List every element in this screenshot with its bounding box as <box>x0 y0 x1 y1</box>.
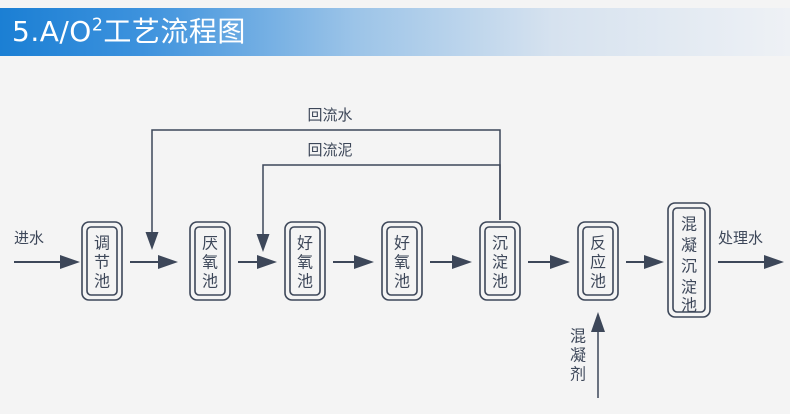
edge-chendian-to-fanying <box>528 255 570 269</box>
node-tiaojie-char-0: 调 <box>94 234 110 253</box>
node-chendian-char-2: 池 <box>492 272 508 291</box>
node-haoyang-1[interactable]: 好 氧 池 <box>285 222 325 300</box>
node-haoyang-2-char-1: 氧 <box>394 253 410 272</box>
node-yanyang-char-2: 池 <box>202 272 218 291</box>
node-fanying-char-2: 池 <box>590 272 606 291</box>
return-water-arrowhead <box>146 232 159 250</box>
node-tiaojie-char-1: 节 <box>94 253 110 272</box>
return-sludge-path <box>257 165 501 252</box>
node-yanyang-char-0: 厌 <box>202 234 218 253</box>
node-yanyang[interactable]: 厌 氧 池 <box>190 222 230 300</box>
node-haoyang-1-char-2: 池 <box>297 272 313 291</box>
edge-haoyang2-to-chendian <box>430 255 472 269</box>
outlet-arrow <box>718 255 784 269</box>
node-hunning-char-4: 池 <box>681 296 697 315</box>
node-haoyang-2-char-0: 好 <box>394 234 410 253</box>
node-chendian-char-1: 淀 <box>492 253 508 272</box>
node-fanying[interactable]: 反 应 池 <box>578 222 618 300</box>
edge-tiaojie-to-yanyang <box>130 255 178 269</box>
node-hunning-chendian[interactable]: 混 凝 沉 淀 池 <box>668 203 710 317</box>
node-chendian-char-0: 沉 <box>492 234 508 253</box>
edge-yanyang-to-haoyang1 <box>238 255 277 269</box>
return-sludge-label: 回流泥 <box>307 141 352 159</box>
edge-fanying-to-hunning <box>626 255 664 269</box>
outlet-label: 处理水 <box>718 229 763 247</box>
coagulant-dosing-arrow <box>591 312 605 398</box>
inlet-arrow <box>14 255 80 269</box>
node-haoyang-1-char-1: 氧 <box>297 253 313 272</box>
edge-haoyang1-to-haoyang2 <box>333 255 374 269</box>
node-hunning-char-0: 混 <box>681 215 697 234</box>
coagulant-label-char-2: 剂 <box>570 365 586 384</box>
node-hunning-char-1: 凝 <box>681 236 697 255</box>
node-hunning-char-2: 沉 <box>681 257 697 276</box>
inlet-label: 进水 <box>14 229 44 247</box>
return-sludge-arrowhead <box>257 234 270 252</box>
node-haoyang-1-char-0: 好 <box>297 234 313 253</box>
process-flow-diagram: 回流水 回流泥 进水 调 节 池 厌 氧 池 好 氧 <box>0 0 790 414</box>
return-water-label: 回流水 <box>307 106 352 124</box>
node-chendian[interactable]: 沉 淀 池 <box>480 222 520 300</box>
node-tiaojie-char-2: 池 <box>94 272 110 291</box>
node-yanyang-char-1: 氧 <box>202 253 218 272</box>
node-haoyang-2[interactable]: 好 氧 池 <box>382 222 422 300</box>
coagulant-label-char-1: 凝 <box>570 346 586 365</box>
node-fanying-char-0: 反 <box>590 234 606 253</box>
node-hunning-char-3: 淀 <box>681 278 697 297</box>
node-tiaojie[interactable]: 调 节 池 <box>82 222 122 300</box>
node-haoyang-2-char-2: 池 <box>394 272 410 291</box>
coagulant-label-char-0: 混 <box>570 327 586 346</box>
coagulant-label: 混 凝 剂 <box>570 327 586 384</box>
node-fanying-char-1: 应 <box>590 253 606 272</box>
